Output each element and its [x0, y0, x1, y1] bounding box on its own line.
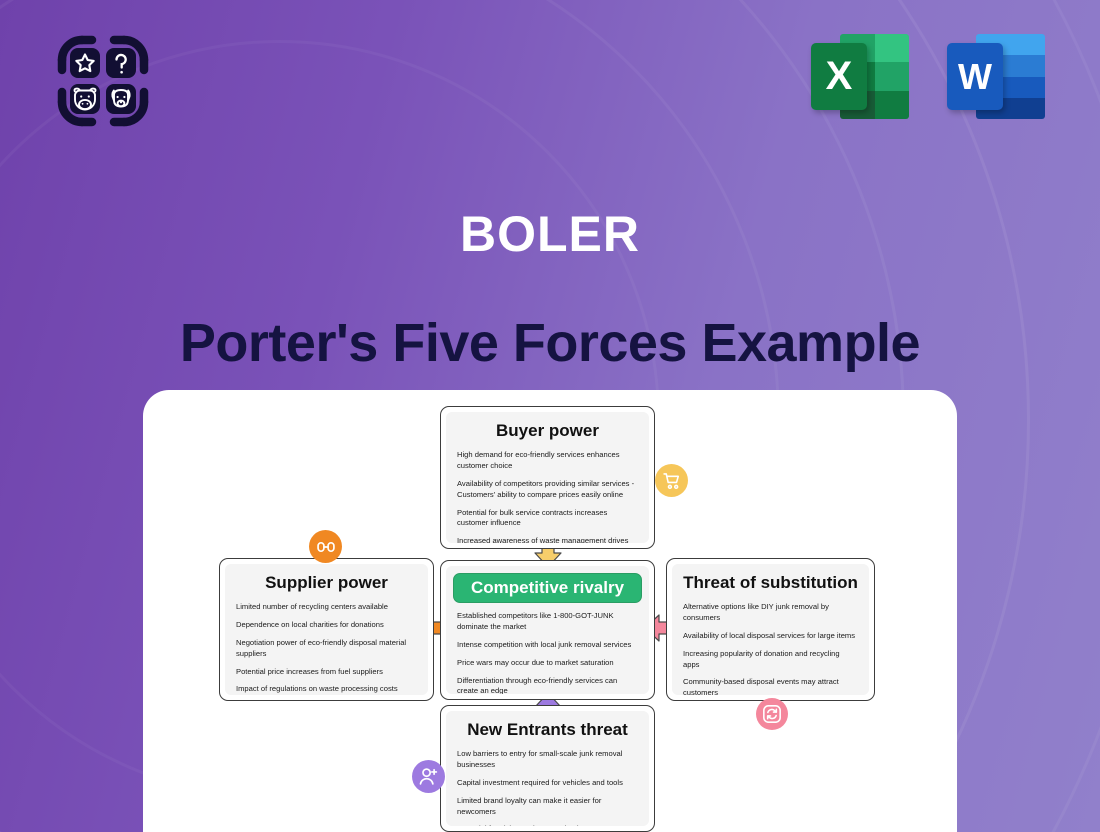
card-bullet: Alternative options like DIY junk remova… [683, 602, 858, 624]
refresh-sync-icon[interactable] [756, 698, 788, 730]
card-title: Buyer power [457, 421, 638, 441]
card-bullet: Price wars may occur due to market satur… [457, 658, 638, 669]
card-bullet: Community-based disposal events may attr… [683, 677, 858, 695]
card-title: New Entrants threat [457, 720, 638, 740]
page-title: Porter's Five Forces Example [0, 312, 1100, 374]
card-title: Threat of substitution [683, 573, 858, 593]
link-chain-icon[interactable] [309, 530, 342, 563]
shopping-cart-icon[interactable] [655, 464, 688, 497]
card-bullet: Differentiation through eco-friendly ser… [457, 676, 638, 694]
card-supplier-power[interactable]: Supplier power Limited number of recycli… [219, 558, 434, 701]
brand-name: BOLER [0, 205, 1100, 263]
card-title: Supplier power [236, 573, 417, 593]
card-bullet: Potential for bulk service contracts inc… [457, 508, 638, 530]
star-tile [70, 48, 100, 78]
card-body: Threat of substitution Alternative optio… [672, 564, 869, 695]
card-bullet: Increasing popularity of donation and re… [683, 649, 858, 671]
card-body: New Entrants threat Low barriers to entr… [446, 711, 649, 826]
card-bullet: Dependence on local charities for donati… [236, 620, 417, 631]
card-bullet: Intense competition with local junk remo… [457, 640, 638, 651]
card-competitive-rivalry[interactable]: Competitive rivalry Established competit… [440, 560, 655, 700]
card-bullet: Potential for niche market targeting by … [457, 824, 638, 826]
card-bullet: Availability of competitors providing si… [457, 479, 638, 501]
dog-tile [106, 84, 136, 114]
card-bullet: Low barriers to entry for small-scale ju… [457, 749, 638, 771]
excel-icon[interactable]: X [809, 30, 909, 122]
card-bullet: Potential price increases from fuel supp… [236, 667, 417, 678]
card-body: Competitive rivalry Established competit… [446, 566, 649, 694]
card-bullet: Established competitors like 1-800-GOT-J… [457, 611, 638, 633]
card-bullet: Increased awareness of waste management … [457, 536, 638, 543]
card-bullet: High demand for eco-friendly services en… [457, 450, 638, 472]
office-icons-group: X W [809, 30, 1045, 122]
card-title: Competitive rivalry [453, 573, 642, 603]
word-letter: W [947, 43, 1003, 110]
card-bullet: Impact of regulations on waste processin… [236, 684, 417, 695]
add-person-icon[interactable] [412, 760, 445, 793]
card-new-entrants-threat[interactable]: New Entrants threat Low barriers to entr… [440, 705, 655, 832]
excel-letter: X [811, 43, 867, 110]
card-bullet: Limited number of recycling centers avai… [236, 602, 417, 613]
card-buyer-power[interactable]: Buyer power High demand for eco-friendly… [440, 406, 655, 549]
card-threat-of-substitution[interactable]: Threat of substitution Alternative optio… [666, 558, 875, 701]
card-body: Buyer power High demand for eco-friendly… [446, 412, 649, 543]
card-bullet: Negotiation power of eco-friendly dispos… [236, 638, 417, 660]
card-bullet: Limited brand loyalty can make it easier… [457, 796, 638, 818]
boler-logo[interactable] [52, 30, 154, 132]
card-bullet: Capital investment required for vehicles… [457, 778, 638, 789]
question-tile [106, 48, 136, 78]
word-icon[interactable]: W [945, 30, 1045, 122]
card-body: Supplier power Limited number of recycli… [225, 564, 428, 695]
card-bullet: Availability of local disposal services … [683, 631, 858, 642]
